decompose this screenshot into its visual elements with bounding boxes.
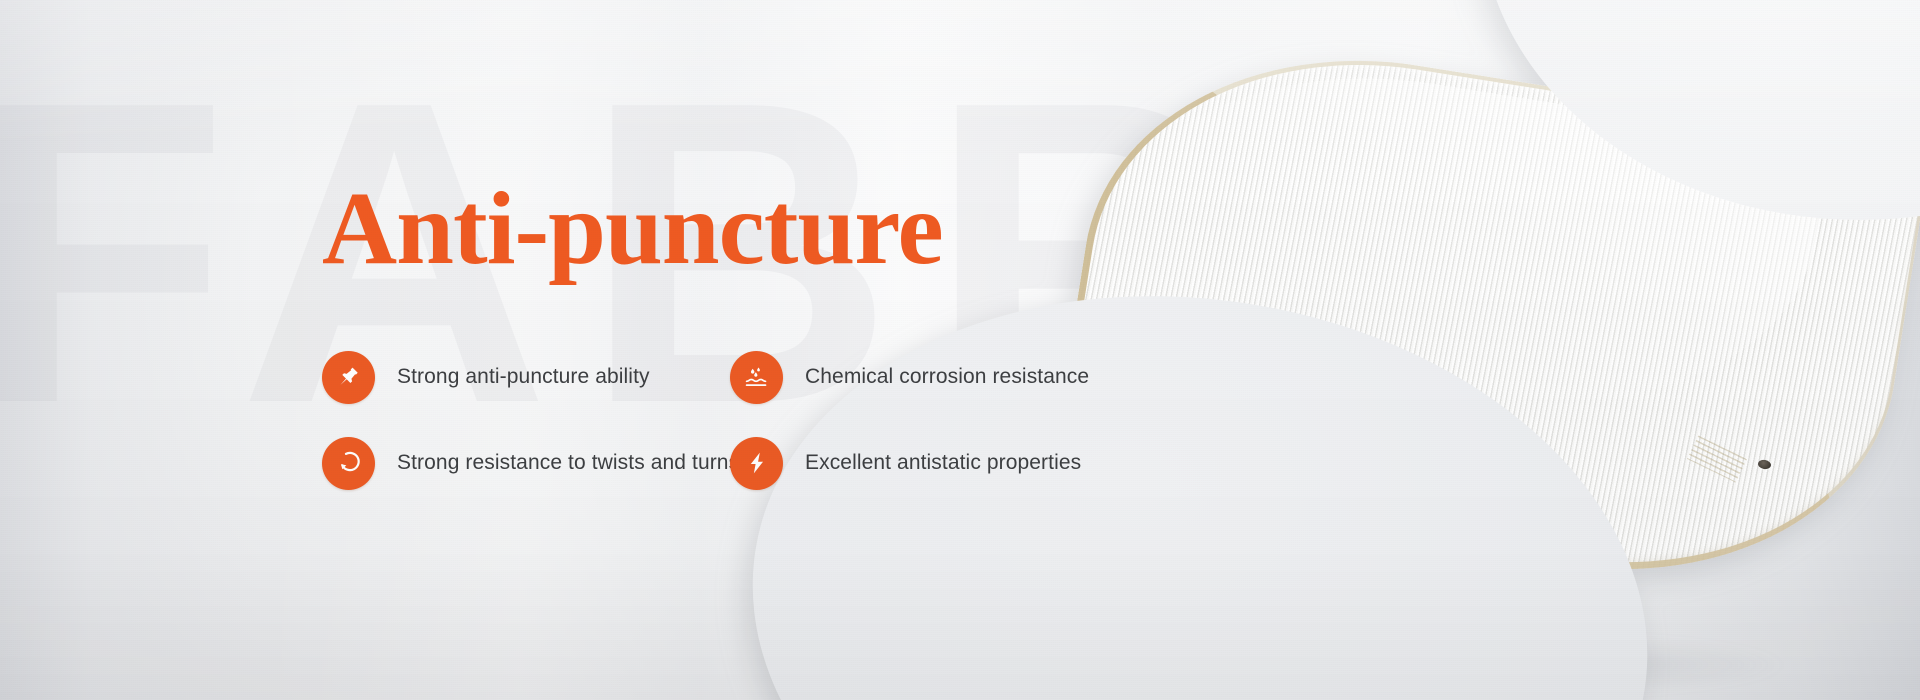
feature-label: Excellent antistatic properties <box>805 451 1081 475</box>
product-feature-banner: FABRIC Anti-puncture <box>0 0 1920 700</box>
feature-label: Chemical corrosion resistance <box>805 365 1089 389</box>
rotation-arrow-icon <box>322 437 375 490</box>
feature-item-anti-puncture[interactable]: Strong anti-puncture ability <box>322 351 730 404</box>
feature-item-antistatic[interactable]: Excellent antistatic properties <box>730 437 1138 490</box>
pushpin-icon <box>322 351 375 404</box>
copy-block: Anti-puncture Strong anti-puncture abili… <box>322 176 1082 506</box>
product-photo <box>1020 60 1920 700</box>
lightning-bolt-icon <box>730 437 783 490</box>
feature-item-chemical-resistance[interactable]: Chemical corrosion resistance <box>730 351 1138 404</box>
feature-label: Strong resistance to twists and turns <box>397 451 739 475</box>
feature-label: Strong anti-puncture ability <box>397 365 650 389</box>
feature-list: Strong anti-puncture ability <box>322 334 1082 506</box>
feature-item-twist-resistance[interactable]: Strong resistance to twists and turns <box>322 437 730 490</box>
chemical-droplet-icon <box>730 351 783 404</box>
page-title: Anti-puncture <box>322 176 1082 282</box>
